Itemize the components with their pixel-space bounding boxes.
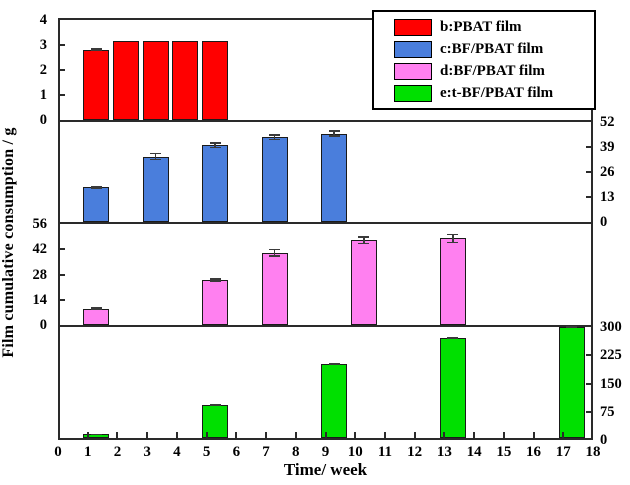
x-tick (414, 432, 416, 439)
x-tick (87, 432, 89, 439)
bar (143, 41, 169, 120)
x-tick (325, 432, 327, 439)
bars-bf-pbat-d (60, 224, 591, 325)
y-tick (58, 44, 65, 46)
bar (172, 41, 198, 120)
y-tick-label: 1 (0, 88, 47, 103)
bar (113, 41, 139, 120)
x-tick (533, 432, 535, 439)
bar (202, 145, 228, 222)
bar (351, 240, 377, 325)
x-tick-label: 10 (340, 445, 370, 460)
legend-swatch (394, 19, 432, 36)
legend-label: e:t-BF/PBAT film (440, 85, 553, 102)
error-bar (321, 130, 347, 136)
legend-label: b:PBAT film (440, 19, 522, 36)
y-tick-label: 52 (600, 115, 630, 130)
y-tick-label: 4 (0, 13, 47, 28)
y-tick-label: 39 (600, 140, 630, 155)
legend-label: c:BF/PBAT film (440, 41, 543, 58)
error-bar (83, 307, 109, 310)
x-tick-label: 7 (251, 445, 281, 460)
x-tick (354, 432, 356, 439)
y-tick-label: 26 (600, 165, 630, 180)
panel-t-bf-pbat-e (58, 325, 593, 440)
error-bar (202, 142, 228, 148)
x-tick-label: 13 (429, 445, 459, 460)
error-bar (351, 236, 377, 244)
legend-item: b:PBAT film (380, 17, 588, 37)
bars-bf-pbat-c (60, 122, 591, 222)
y-tick (58, 94, 65, 96)
bar (143, 157, 169, 222)
bar (83, 187, 109, 222)
x-tick (206, 432, 208, 439)
panel-bf-pbat-d (58, 222, 593, 325)
bar (83, 309, 109, 325)
bars-t-bf-pbat-e (60, 327, 591, 438)
x-tick-label: 4 (162, 445, 192, 460)
y-tick-label: 150 (600, 377, 630, 392)
bar (440, 238, 466, 325)
x-tick (384, 432, 386, 439)
x-axis-title: Time/ week (58, 459, 593, 481)
x-tick (295, 432, 297, 439)
bar (321, 364, 347, 438)
y-tick-label: 0 (0, 318, 47, 333)
x-tick-label: 15 (489, 445, 519, 460)
error-bar (83, 186, 109, 189)
bar (559, 327, 585, 438)
y-tick-label: 0 (600, 215, 630, 230)
error-bar (262, 249, 288, 257)
x-tick-label: 18 (578, 445, 608, 460)
bar (262, 137, 288, 222)
y-tick-label: 42 (0, 242, 47, 257)
x-tick (503, 432, 505, 439)
y-tick-label: 14 (0, 293, 47, 308)
error-bar (440, 234, 466, 243)
error-bar (143, 153, 169, 161)
y-tick-label: 75 (600, 405, 630, 420)
y-tick-label: 0 (0, 113, 47, 128)
x-tick (443, 432, 445, 439)
x-tick-label: 11 (370, 445, 400, 460)
y-tick (58, 299, 65, 301)
legend-label: d:BF/PBAT film (440, 63, 545, 80)
x-tick (562, 432, 564, 439)
legend-item: c:BF/PBAT film (380, 39, 588, 59)
error-bar (202, 278, 228, 282)
x-tick (146, 432, 148, 439)
legend-swatch (394, 41, 432, 58)
panel-bf-pbat-c (58, 120, 593, 222)
x-tick-label: 12 (400, 445, 430, 460)
y-tick-label: 13 (600, 190, 630, 205)
y-tick (586, 171, 593, 173)
y-tick (58, 274, 65, 276)
bar (202, 280, 228, 325)
x-tick-label: 14 (459, 445, 489, 460)
error-bar (440, 337, 466, 339)
y-tick-label: 56 (0, 217, 47, 232)
y-tick (586, 354, 593, 356)
x-tick-label: 6 (221, 445, 251, 460)
x-tick (235, 432, 237, 439)
x-tick-label: 3 (132, 445, 162, 460)
chart-legend: b:PBAT filmc:BF/PBAT filmd:BF/PBAT filme… (372, 10, 596, 110)
y-tick (586, 196, 593, 198)
error-bar (83, 48, 109, 51)
y-tick (586, 383, 593, 385)
y-tick-label: 225 (600, 348, 630, 363)
x-tick-label: 1 (73, 445, 103, 460)
y-tick-label: 28 (0, 268, 47, 283)
y-tick-label: 300 (600, 320, 630, 335)
x-tick (116, 432, 118, 439)
y-tick (58, 69, 65, 71)
x-tick (473, 432, 475, 439)
error-bar (202, 404, 228, 406)
legend-item: d:BF/PBAT film (380, 61, 588, 81)
y-tick (58, 248, 65, 250)
legend-swatch (394, 63, 432, 80)
x-tick-label: 9 (311, 445, 341, 460)
x-tick (176, 432, 178, 439)
x-tick-label: 17 (548, 445, 578, 460)
error-bar (559, 326, 585, 328)
x-tick-label: 5 (192, 445, 222, 460)
bar (321, 134, 347, 222)
bar (202, 41, 228, 120)
x-tick-label: 2 (102, 445, 132, 460)
error-bar (262, 134, 288, 140)
y-tick (586, 146, 593, 148)
y-tick-label: 3 (0, 38, 47, 53)
bar (440, 338, 466, 438)
legend-item: e:t-BF/PBAT film (380, 83, 588, 103)
bar (83, 50, 109, 121)
x-tick-label: 8 (281, 445, 311, 460)
x-tick-label: 0 (43, 445, 73, 460)
x-tick-label: 16 (519, 445, 549, 460)
legend-swatch (394, 85, 432, 102)
y-tick (586, 411, 593, 413)
x-tick (265, 432, 267, 439)
y-tick-label: 2 (0, 63, 47, 78)
bar (262, 253, 288, 325)
chart-root: Film cumulative consumption / g 01234013… (0, 0, 630, 485)
error-bar (321, 363, 347, 365)
